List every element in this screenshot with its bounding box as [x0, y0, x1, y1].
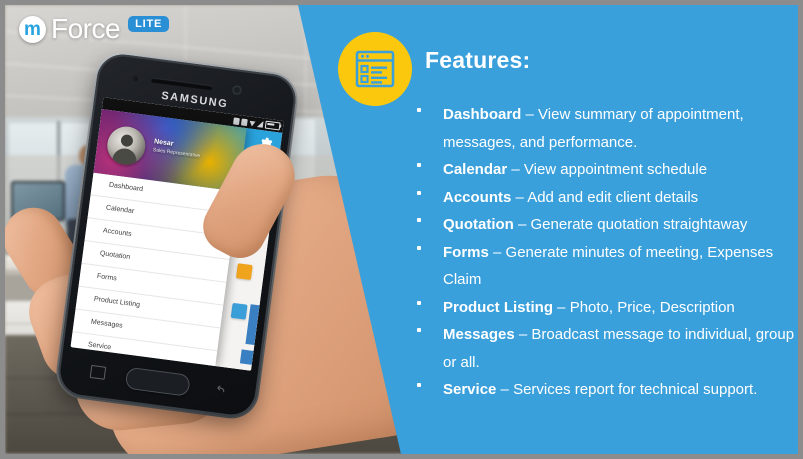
- feature-text: Accounts – Add and edit client details: [443, 184, 798, 212]
- bullet-icon: [417, 108, 421, 112]
- feature-desc: Services report for technical support.: [513, 381, 757, 398]
- feature-list-icon-glyph: [353, 47, 397, 91]
- feature-dash: –: [553, 299, 570, 316]
- profile-role: Sales Representative: [153, 147, 201, 159]
- feature-dash: –: [515, 326, 532, 343]
- features-list: Dashboard – View summary of appointment,…: [413, 101, 798, 404]
- feature-item: Messages – Broadcast message to individu…: [413, 321, 798, 376]
- battery-icon: [265, 121, 281, 131]
- feature-name: Quotation: [443, 216, 514, 233]
- bullet-icon: [417, 163, 421, 167]
- sync-icon: [241, 118, 248, 126]
- profile-name: Nesar: [154, 138, 174, 147]
- feature-name: Messages: [443, 326, 515, 343]
- avatar: [105, 124, 148, 167]
- feature-name: Dashboard: [443, 106, 521, 123]
- feature-text: Quotation – Generate quotation straighta…: [443, 211, 798, 239]
- feature-desc: View appointment schedule: [524, 161, 707, 178]
- feature-dash: –: [514, 216, 531, 233]
- slide-root: SAMSUNG: [0, 0, 803, 459]
- lite-badge: LITE: [128, 16, 169, 32]
- back-button-icon[interactable]: [214, 383, 228, 396]
- feature-name: Accounts: [443, 189, 511, 206]
- feature-text: Messages – Broadcast message to individu…: [443, 321, 798, 376]
- scroll-accent: [240, 349, 254, 364]
- feature-name: Service: [443, 381, 496, 398]
- signal-icon: [257, 120, 264, 128]
- feature-dash: –: [511, 189, 527, 206]
- feature-text: Product Listing – Photo, Price, Descript…: [443, 294, 798, 322]
- bullet-icon: [417, 301, 421, 305]
- bullet-icon: [417, 328, 421, 332]
- app-tile[interactable]: [236, 263, 253, 280]
- feature-item: Dashboard – View summary of appointment,…: [413, 101, 798, 156]
- feature-dash: –: [489, 244, 506, 261]
- feature-item: Service – Services report for technical …: [413, 376, 798, 404]
- brand-logo: m Force LITE: [19, 13, 169, 45]
- feature-dash: –: [496, 381, 513, 398]
- feature-text: Service – Services report for technical …: [443, 376, 798, 404]
- feature-name: Product Listing: [443, 299, 553, 316]
- feature-item: Quotation – Generate quotation straighta…: [413, 211, 798, 239]
- bullet-icon: [417, 383, 421, 387]
- logo-mark-letter: m: [24, 20, 41, 39]
- feature-dash: –: [507, 161, 524, 178]
- feature-item: Forms – Generate minutes of meeting, Exp…: [413, 239, 798, 294]
- notification-icon: [233, 117, 240, 125]
- feature-item: Calendar – View appointment schedule: [413, 156, 798, 184]
- feature-item: Accounts – Add and edit client details: [413, 184, 798, 212]
- feature-text: Forms – Generate minutes of meeting, Exp…: [443, 239, 798, 294]
- feature-desc: Photo, Price, Description: [570, 299, 735, 316]
- feature-desc: Generate quotation straightaway: [531, 216, 748, 233]
- feature-name: Calendar: [443, 161, 507, 178]
- bullet-icon: [417, 246, 421, 250]
- logo-mark-icon: m: [19, 16, 46, 43]
- bullet-icon: [417, 218, 421, 222]
- recents-button-icon[interactable]: [90, 365, 107, 380]
- feature-item: Product Listing – Photo, Price, Descript…: [413, 294, 798, 322]
- feature-name: Forms: [443, 244, 489, 261]
- logo-wordmark: Force: [51, 13, 120, 45]
- app-tile[interactable]: [231, 303, 248, 320]
- feature-desc: Add and edit client details: [527, 189, 698, 206]
- wifi-icon: [249, 119, 256, 127]
- feature-text: Calendar – View appointment schedule: [443, 156, 798, 184]
- feature-dash: –: [521, 106, 538, 123]
- feature-text: Dashboard – View summary of appointment,…: [443, 101, 798, 156]
- bullet-icon: [417, 191, 421, 195]
- feature-list-icon: [338, 32, 412, 106]
- slide-stage: SAMSUNG: [5, 5, 798, 454]
- features-title: Features:: [425, 47, 530, 74]
